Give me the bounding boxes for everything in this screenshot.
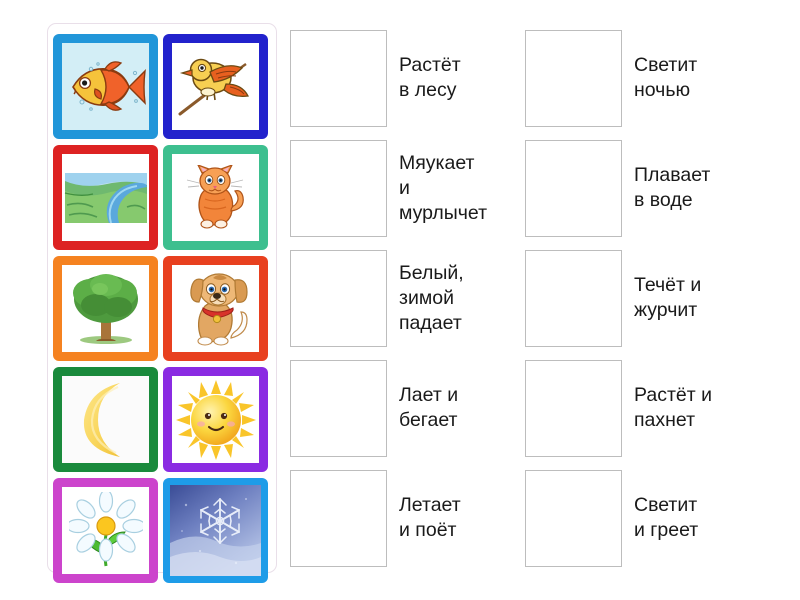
image-tile-river[interactable] [53, 145, 158, 250]
dropbox-3[interactable] [290, 250, 387, 347]
snowflake-icon [170, 485, 261, 576]
fish-icon [62, 43, 149, 130]
answer-row: Мяукаетимурлычет [290, 133, 525, 243]
answer-label: Белый,зимойпадает [399, 261, 507, 336]
image-tile-tree[interactable] [53, 256, 158, 361]
dropbox-10[interactable] [525, 470, 622, 567]
answer-label: Растёт ипахнет [634, 383, 742, 433]
bird-icon [172, 43, 259, 130]
dropbox-1[interactable] [290, 30, 387, 127]
image-tile-fish[interactable] [53, 34, 158, 139]
answer-column-right: Светитночью Плаваетв воде Течёт ижурчит … [525, 23, 760, 573]
answer-row: Плаваетв воде [525, 133, 760, 243]
dog-icon [172, 265, 259, 352]
answer-label: Лает ибегает [399, 383, 507, 433]
answer-label: Растётв лесу [399, 53, 507, 103]
dropbox-5[interactable] [290, 470, 387, 567]
cat-icon [172, 154, 259, 241]
dropbox-7[interactable] [525, 140, 622, 237]
answer-label: Светити греет [634, 493, 742, 543]
answer-row: Белый,зимойпадает [290, 243, 525, 353]
answer-row: Летаети поёт [290, 463, 525, 573]
dropbox-4[interactable] [290, 360, 387, 457]
flower-icon [62, 487, 149, 574]
answer-label: Плаваетв воде [634, 163, 742, 213]
answer-row: Светитночью [525, 23, 760, 133]
dropbox-6[interactable] [525, 30, 622, 127]
answer-label: Летаети поёт [399, 493, 507, 543]
tree-icon [62, 265, 149, 352]
answer-label: Мяукаетимурлычет [399, 151, 507, 226]
image-tile-sun[interactable] [163, 367, 268, 472]
answer-label: Течёт ижурчит [634, 273, 742, 323]
dropbox-2[interactable] [290, 140, 387, 237]
river-icon [62, 154, 149, 241]
answer-row: Растётв лесу [290, 23, 525, 133]
dropbox-9[interactable] [525, 360, 622, 457]
image-tile-cat[interactable] [163, 145, 268, 250]
matching-exercise-board: Растётв лесу Мяукаетимурлычет Белый,зимо… [0, 0, 800, 600]
answer-column-middle: Растётв лесу Мяукаетимурлычет Белый,зимо… [290, 23, 525, 573]
image-tile-snowflake[interactable] [163, 478, 268, 583]
answer-row: Лает ибегает [290, 353, 525, 463]
image-tile-moon[interactable] [53, 367, 158, 472]
answer-label: Светитночью [634, 53, 742, 103]
answer-row: Течёт ижурчит [525, 243, 760, 353]
moon-icon [62, 376, 149, 463]
image-tile-bird[interactable] [163, 34, 268, 139]
image-tile-panel [47, 23, 277, 573]
sun-icon [172, 376, 259, 463]
answer-row: Светити греет [525, 463, 760, 573]
answer-row: Растёт ипахнет [525, 353, 760, 463]
image-tile-flower[interactable] [53, 478, 158, 583]
image-tile-dog[interactable] [163, 256, 268, 361]
dropbox-8[interactable] [525, 250, 622, 347]
